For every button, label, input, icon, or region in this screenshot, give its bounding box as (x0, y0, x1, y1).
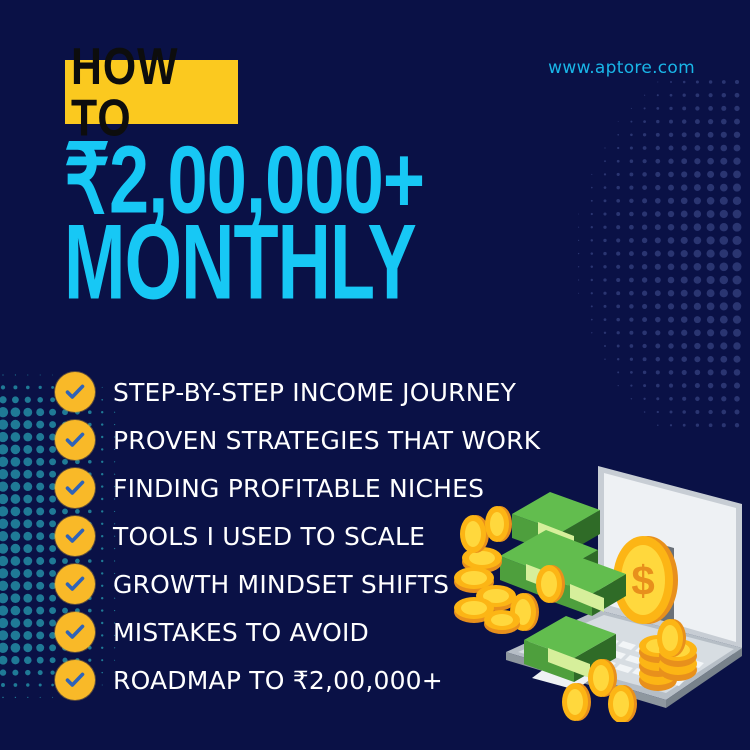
site-url[interactable]: www.aptore.com (548, 58, 695, 78)
checklist-item[interactable]: FINDING PROFITABLE NICHES (55, 464, 615, 512)
check-circle-icon (55, 564, 95, 604)
checklist-item-label: ROADMAP TO ₹2,00,000+ (113, 666, 443, 695)
checklist-item[interactable]: MISTAKES TO AVOID (55, 608, 615, 656)
dollar-coin-on-screen: $ (613, 536, 678, 624)
checklist-item[interactable]: STEP-BY-STEP INCOME JOURNEY (55, 368, 615, 416)
checklist-item-label: PROVEN STRATEGIES THAT WORK (113, 426, 540, 455)
checklist: STEP-BY-STEP INCOME JOURNEYPROVEN STRATE… (55, 368, 615, 704)
check-circle-icon (55, 660, 95, 700)
checklist-item-label: GROWTH MINDSET SHIFTS (113, 570, 449, 599)
checklist-item-label: TOOLS I USED TO SCALE (113, 522, 425, 551)
checklist-item-label: MISTAKES TO AVOID (113, 618, 369, 647)
check-circle-icon (55, 468, 95, 508)
how-to-badge: HOW TO (65, 60, 238, 124)
headline-period: MONTHLY (64, 218, 487, 310)
checklist-item-label: STEP-BY-STEP INCOME JOURNEY (113, 378, 516, 407)
svg-text:$: $ (631, 557, 654, 604)
poster-canvas: www.aptore.com HOW TO ₹2,00,000+ MONTHLY… (0, 0, 750, 750)
checklist-item[interactable]: ROADMAP TO ₹2,00,000+ (55, 656, 615, 704)
page-title: ₹2,00,000+ MONTHLY (64, 140, 534, 288)
checklist-item[interactable]: TOOLS I USED TO SCALE (55, 512, 615, 560)
checklist-item[interactable]: GROWTH MINDSET SHIFTS (55, 560, 615, 608)
check-circle-icon (55, 372, 95, 412)
check-circle-icon (55, 516, 95, 556)
check-circle-icon (55, 612, 95, 652)
check-circle-icon (55, 420, 95, 460)
checklist-item[interactable]: PROVEN STRATEGIES THAT WORK (55, 416, 615, 464)
checklist-item-label: FINDING PROFITABLE NICHES (113, 474, 484, 503)
